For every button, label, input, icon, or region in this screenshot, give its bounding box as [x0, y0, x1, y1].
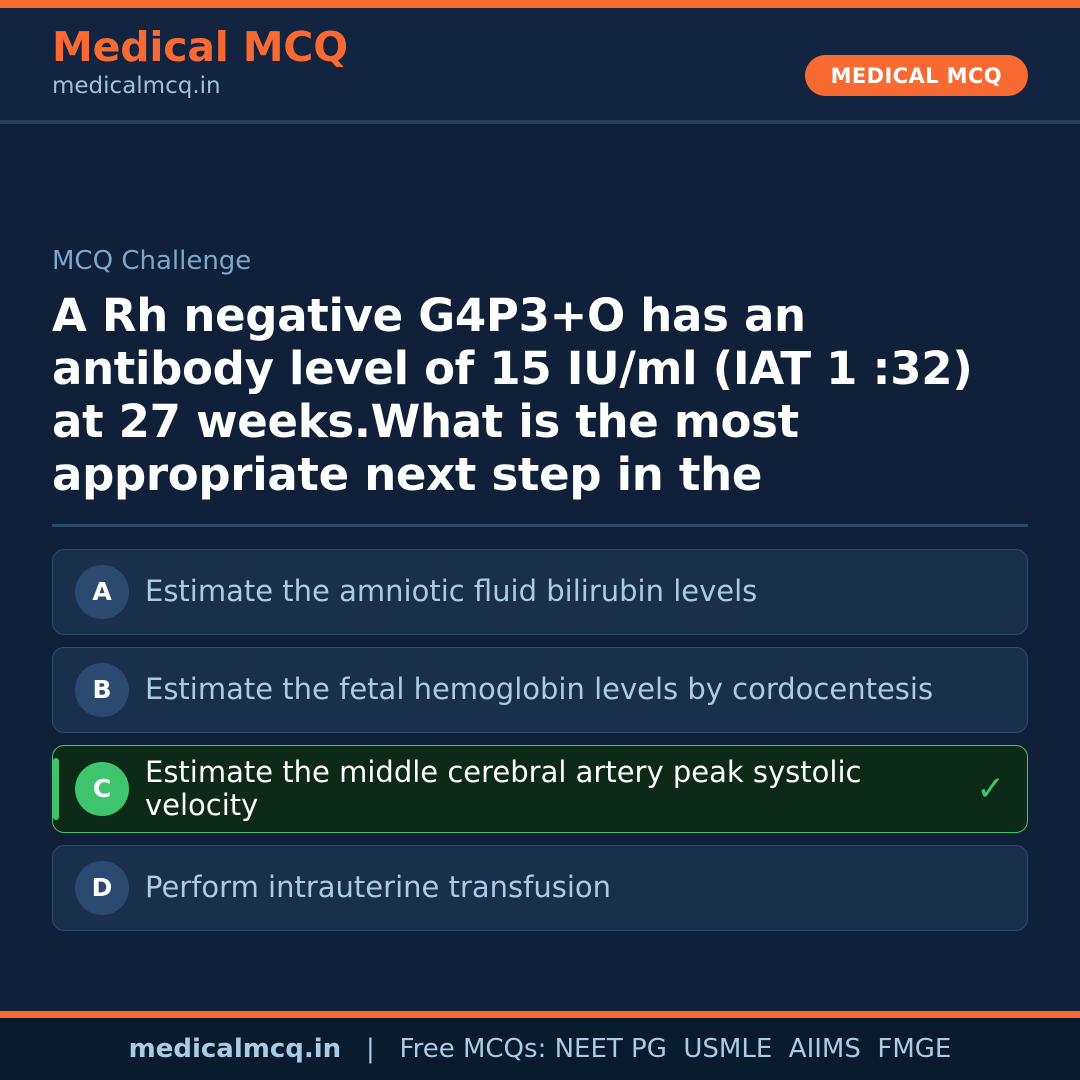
option-text-a: Estimate the amniotic fluid bilirubin le…	[145, 575, 967, 608]
question-divider	[52, 524, 1028, 527]
option-badge-a: A	[75, 565, 129, 619]
top-accent-bar	[0, 0, 1080, 8]
header: Medical MCQ medicalmcq.in MEDICAL MCQ	[0, 8, 1080, 120]
brand-block: Medical MCQ medicalmcq.in	[52, 27, 348, 101]
correct-accent-bar	[53, 758, 59, 820]
header-badge-label: MEDICAL MCQ	[831, 64, 1002, 88]
option-row-b[interactable]: B Estimate the fetal hemoglobin levels b…	[52, 647, 1028, 733]
option-badge-b: B	[75, 663, 129, 717]
footer-accent-bar	[0, 1011, 1080, 1018]
footer-separator: |	[341, 1034, 399, 1064]
option-row-c[interactable]: C Estimate the middle cerebral artery pe…	[52, 745, 1028, 833]
question-text: A Rh negative G4P3+O has an antibody lev…	[52, 289, 1028, 501]
footer: medicalmcq.in | Free MCQs: NEET PG USMLE…	[0, 1018, 1080, 1080]
question-kicker: MCQ Challenge	[52, 246, 1028, 277]
option-letter-d: D	[92, 873, 113, 902]
option-row-d[interactable]: D Perform intrauterine transfusion	[52, 845, 1028, 931]
header-badge-pill: MEDICAL MCQ	[805, 55, 1028, 96]
option-letter-b: B	[92, 675, 111, 704]
option-letter-c: C	[93, 774, 111, 803]
brand-title: Medical MCQ	[52, 27, 348, 69]
check-icon-c: ✓	[977, 769, 1006, 809]
option-text-c: Estimate the middle cerebral artery peak…	[145, 756, 967, 822]
option-text-b: Estimate the fetal hemoglobin levels by …	[145, 673, 967, 706]
footer-site[interactable]: medicalmcq.in	[129, 1034, 342, 1064]
option-badge-c: C	[75, 762, 129, 816]
option-text-d: Perform intrauterine transfusion	[145, 871, 967, 904]
brand-subtitle: medicalmcq.in	[52, 72, 348, 101]
options-list: A Estimate the amniotic fluid bilirubin …	[52, 549, 1028, 931]
option-letter-a: A	[92, 577, 111, 606]
option-row-a[interactable]: A Estimate the amniotic fluid bilirubin …	[52, 549, 1028, 635]
option-badge-d: D	[75, 861, 129, 915]
footer-tagline: Free MCQs: NEET PG USMLE AIIMS FMGE	[400, 1034, 952, 1064]
mcq-card: Medical MCQ medicalmcq.in MEDICAL MCQ MC…	[0, 0, 1080, 1080]
main-content: MCQ Challenge A Rh negative G4P3+O has a…	[0, 124, 1080, 1011]
